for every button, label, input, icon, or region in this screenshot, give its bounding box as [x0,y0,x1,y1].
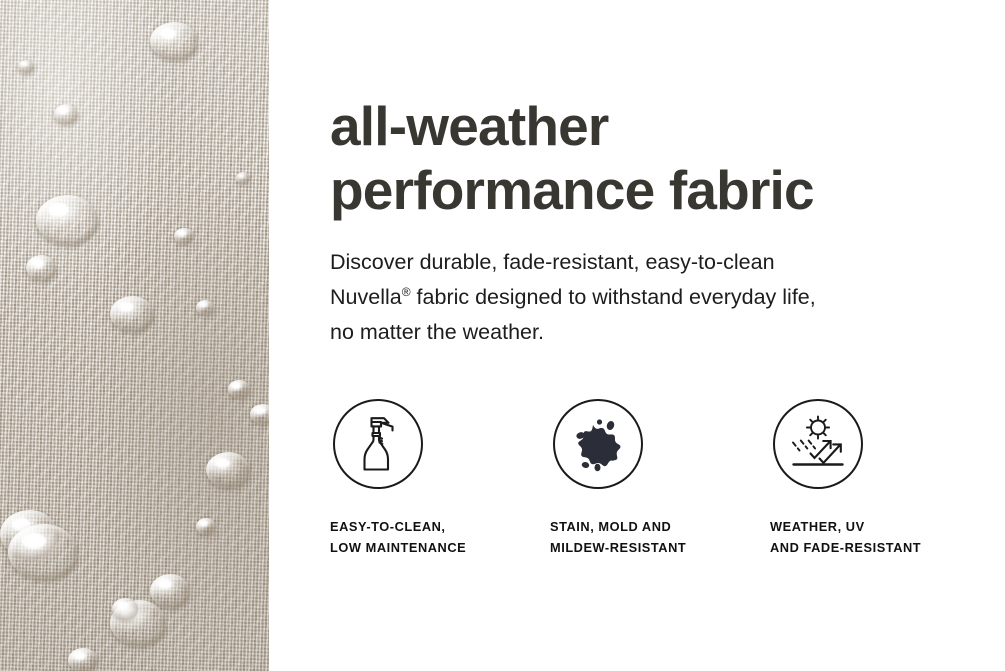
water-droplet [36,195,98,245]
fabric-water-droplets-photo [0,0,269,671]
feature-list: EASY-TO-CLEAN, LOW MAINTENANCE [330,399,990,558]
promo-banner: all-weather performance fabric Discover … [0,0,1005,671]
subcopy-line-1: Discover durable, fade-resistant, easy-t… [330,245,942,280]
water-droplet [110,296,154,332]
feature-item-easy-to-clean: EASY-TO-CLEAN, LOW MAINTENANCE [330,399,550,558]
water-droplet [68,648,98,671]
water-droplet [250,404,269,424]
water-droplet [206,452,250,488]
feature-caption-line-1: STAIN, MOLD AND [550,516,686,537]
water-droplet [18,60,34,73]
subcopy-line-3: no matter the weather. [330,315,942,350]
feature-caption-stain-resistant: STAIN, MOLD AND MILDEW-RESISTANT [550,516,686,558]
spray-bottle-icon [351,413,405,475]
feature-caption-weather-resistant: WEATHER, UV AND FADE-RESISTANT [770,516,921,558]
headline-line-2: performance fabric [330,158,975,222]
water-droplet [54,104,78,124]
water-droplet [8,524,78,580]
page-title: all-weather performance fabric [330,94,975,222]
headline-line-1: all-weather [330,94,975,158]
water-droplet-group [0,0,269,671]
feature-caption-line-1: EASY-TO-CLEAN, [330,516,466,537]
subcopy-line-2-rest: fabric designed to withstand everyday li… [411,285,816,309]
water-droplet [26,255,56,281]
water-droplet [174,228,194,244]
feature-caption-line-2: MILDEW-RESISTANT [550,537,686,558]
water-droplet [196,300,214,315]
feature-caption-line-2: LOW MAINTENANCE [330,537,466,558]
water-droplet [150,22,198,60]
spray-bottle-icon-badge [333,399,423,489]
promo-content: all-weather performance fabric Discover … [330,0,990,671]
feature-caption-easy-to-clean: EASY-TO-CLEAN, LOW MAINTENANCE [330,516,466,558]
feature-caption-line-2: AND FADE-RESISTANT [770,537,921,558]
water-droplet [228,380,250,398]
stain-splat-icon [568,415,628,473]
water-droplet [236,172,250,184]
water-droplet [150,574,190,608]
feature-item-weather-resistant: WEATHER, UV AND FADE-RESISTANT [770,399,990,558]
water-droplet [112,598,138,620]
subcopy-paragraph: Discover durable, fade-resistant, easy-t… [330,245,942,350]
feature-item-stain-resistant: STAIN, MOLD AND MILDEW-RESISTANT [550,399,770,558]
brand-name: Nuvella [330,285,402,309]
feature-caption-line-1: WEATHER, UV [770,516,921,537]
stain-splat-icon-badge [553,399,643,489]
sun-uv-reflect-icon-badge [773,399,863,489]
water-droplet [196,518,216,535]
subcopy-line-2: Nuvella® fabric designed to withstand ev… [330,280,942,315]
sun-uv-reflect-icon [787,415,849,473]
registered-trademark-mark: ® [402,285,411,299]
